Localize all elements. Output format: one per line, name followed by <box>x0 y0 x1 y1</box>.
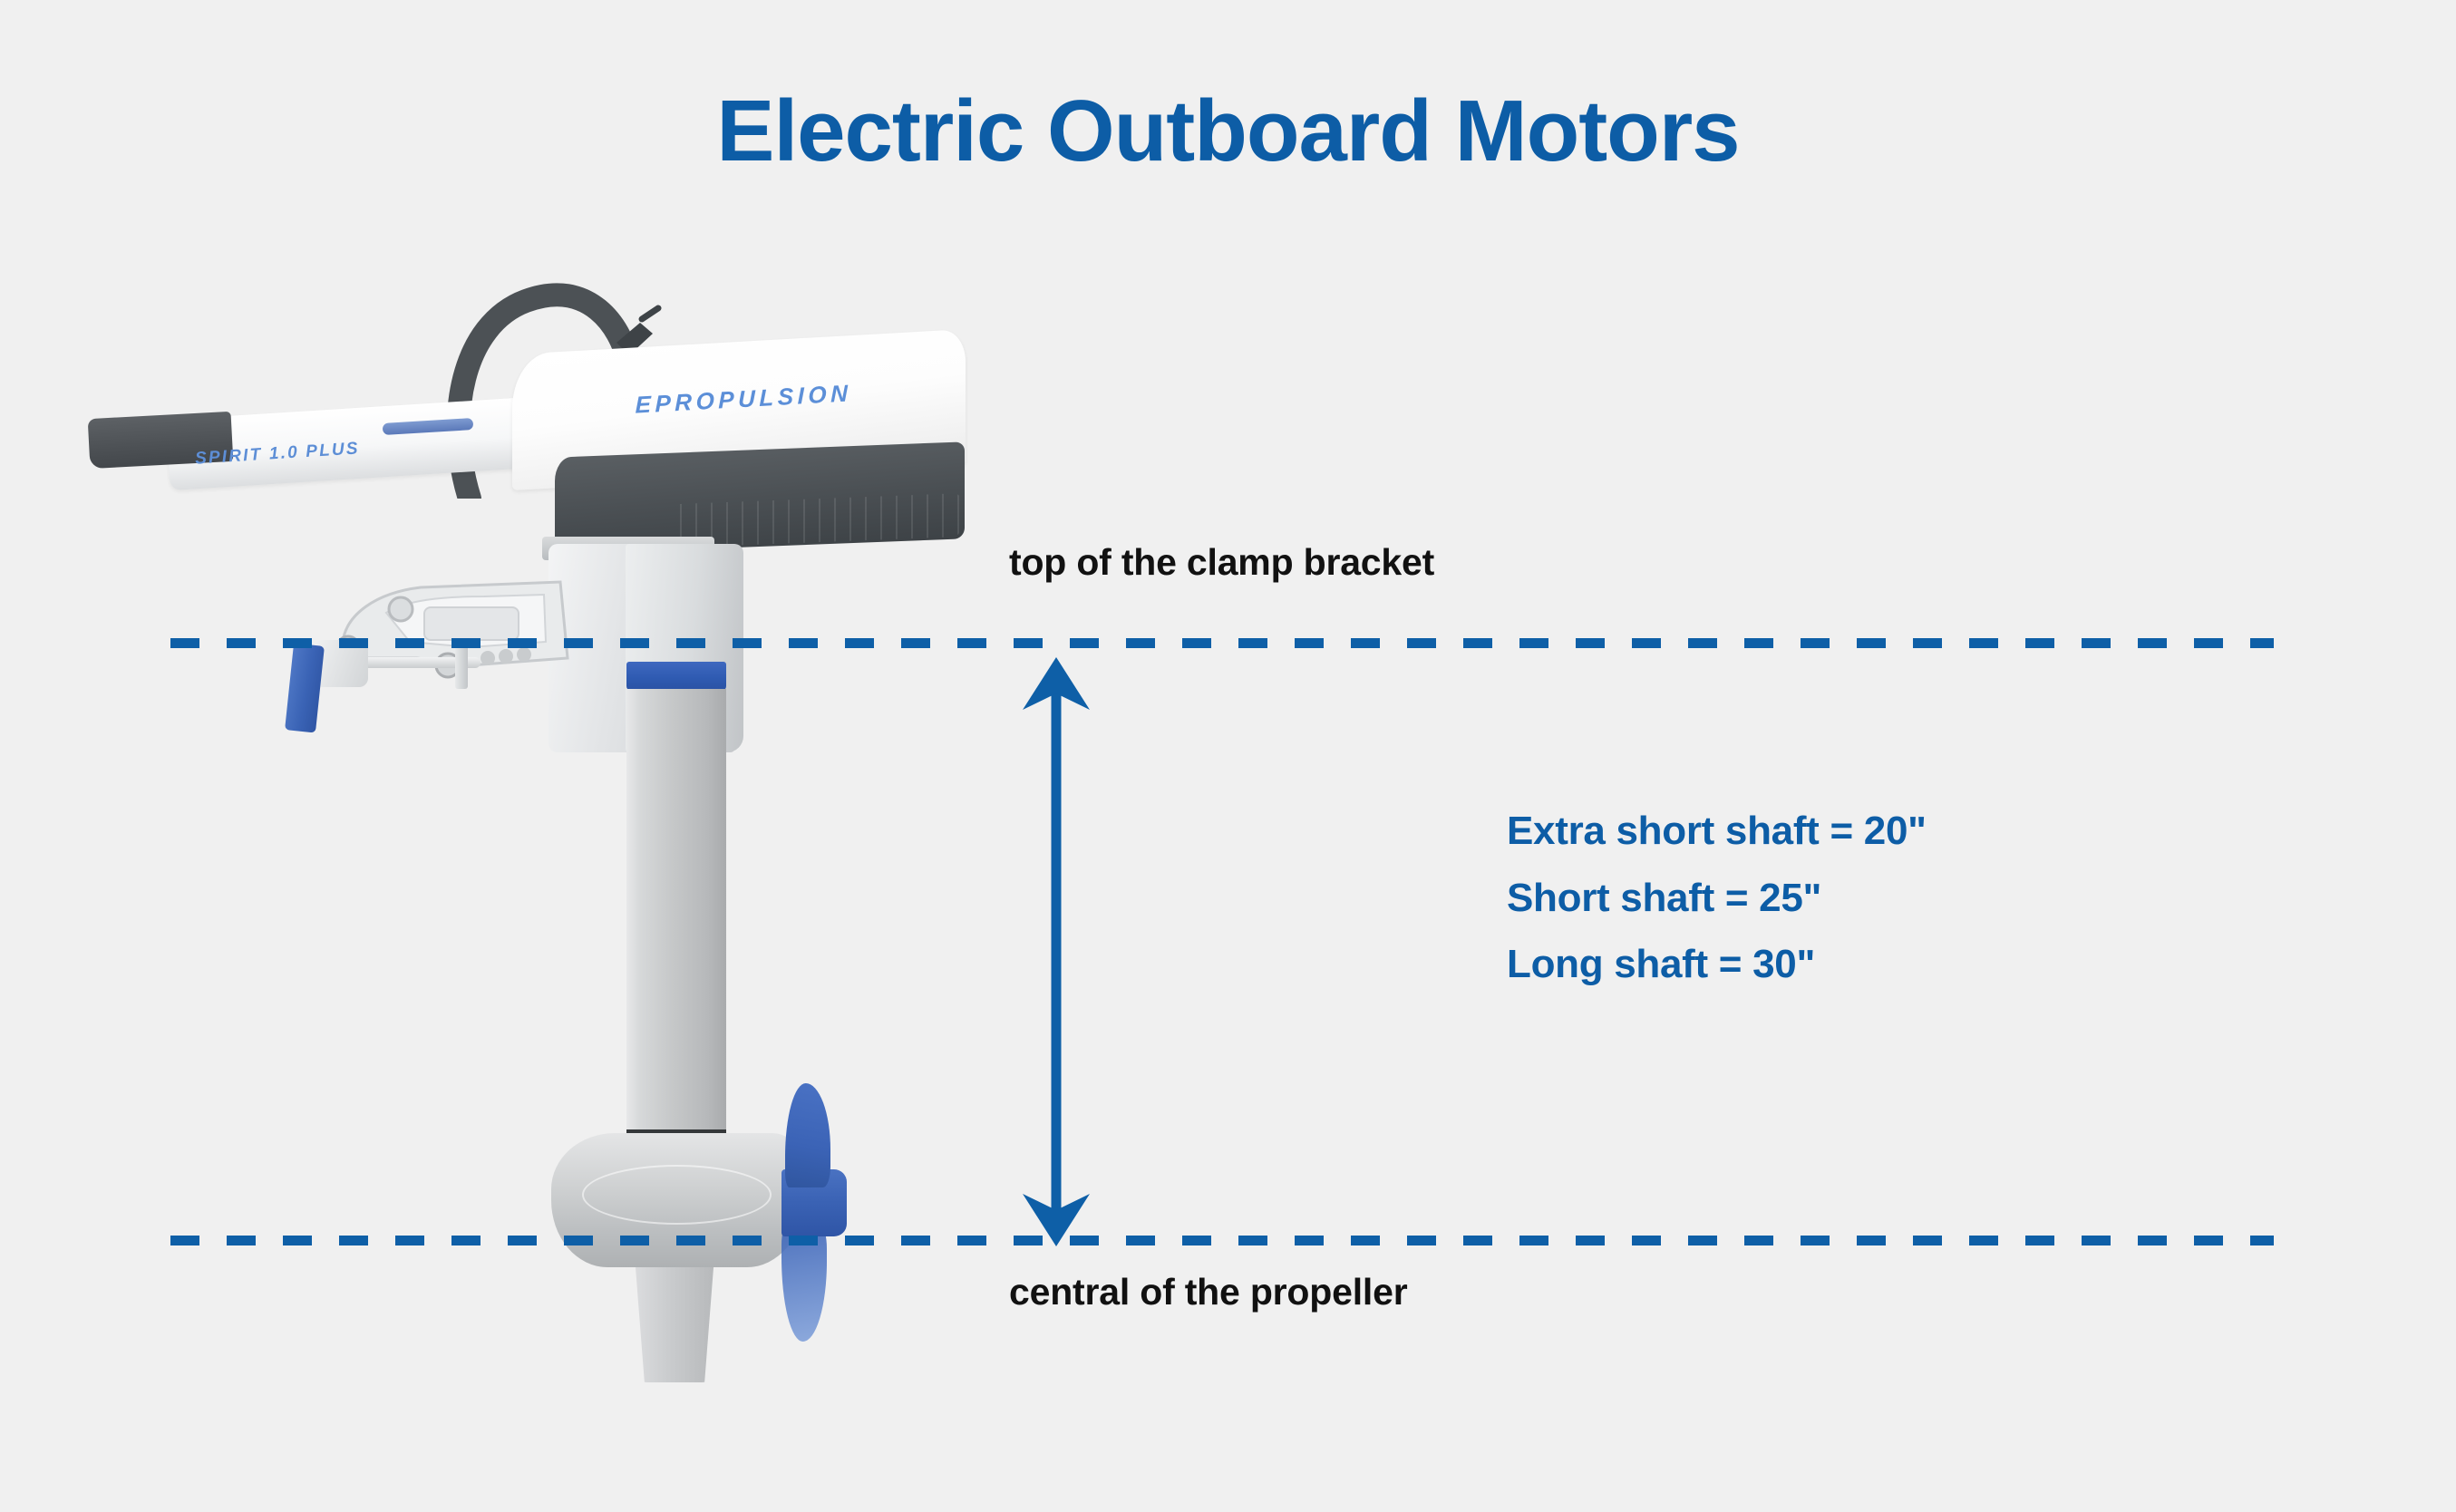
shaft-length-short: Short shaft = 25" <box>1507 874 1927 923</box>
propeller-label: central of the propeller <box>1009 1271 1407 1313</box>
shaft-length-arrow <box>1006 657 1106 1246</box>
clamp-bracket-label: top of the clamp bracket <box>1009 541 1434 584</box>
shaft <box>626 689 726 1133</box>
shaft-collar <box>626 662 726 691</box>
propeller-blade-upper <box>785 1083 830 1187</box>
diagram-canvas: Electric Outboard Motors SPIRIT 1.0 PLUS… <box>0 0 2456 1512</box>
outboard-motor-illustration: SPIRIT 1.0 PLUS EPROPULSION <box>136 272 952 1387</box>
page-title: Electric Outboard Motors <box>0 86 2456 178</box>
shaft-length-legend: Extra short shaft = 20" Short shaft = 25… <box>1507 807 1927 1007</box>
clamp-screw-handle[interactable] <box>285 643 325 732</box>
clamp-bracket-reference-line <box>170 638 2274 648</box>
propeller-reference-line <box>170 1236 2274 1245</box>
gearcase-ridge <box>582 1165 772 1225</box>
shaft-length-long: Long shaft = 30" <box>1507 940 1927 989</box>
shaft-length-extra-short: Extra short shaft = 20" <box>1507 807 1927 856</box>
